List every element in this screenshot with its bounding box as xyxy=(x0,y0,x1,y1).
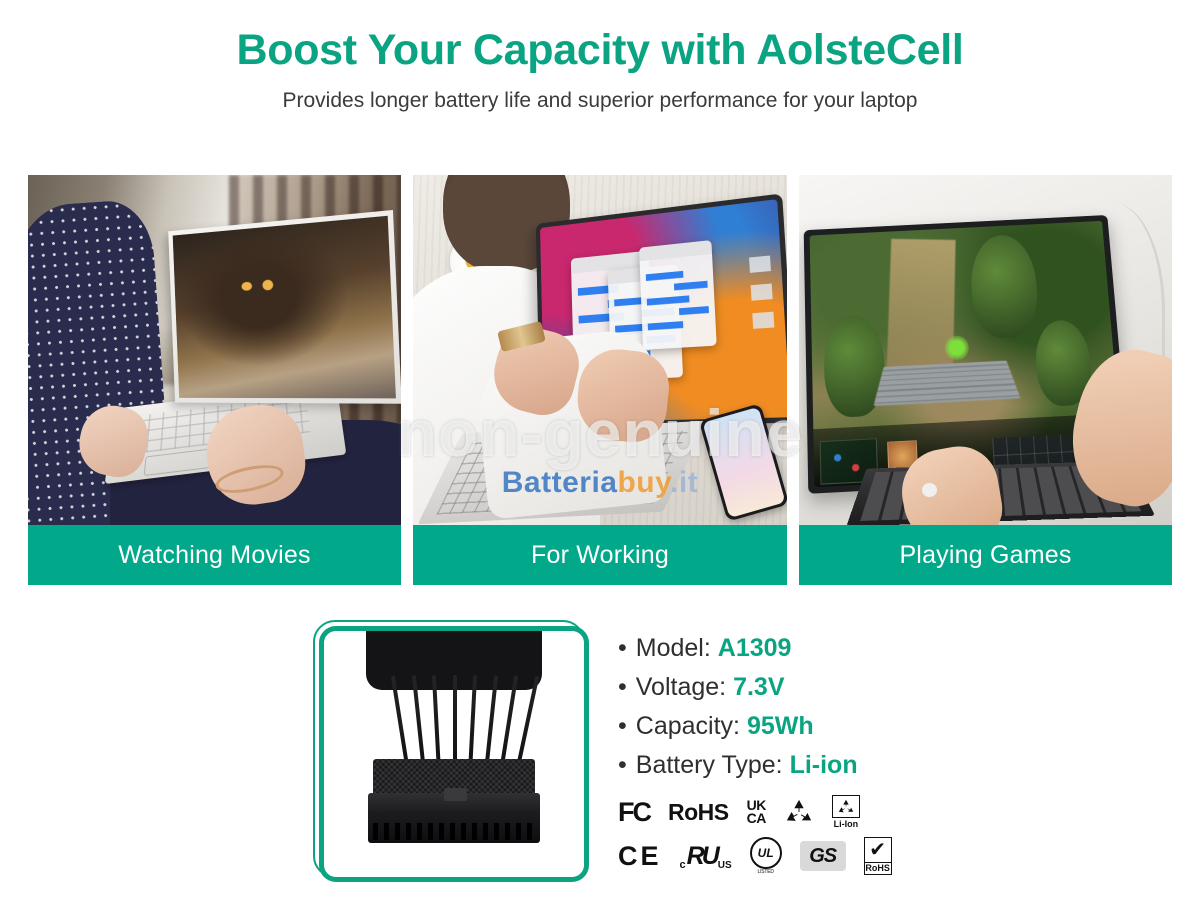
certification-row-1: FC RoHS UKCA xyxy=(618,790,918,834)
use-case-card-watching-movies[interactable]: Watching Movies xyxy=(28,175,401,585)
page-title: Boost Your Capacity with AolsteCell xyxy=(0,26,1200,75)
page-header: Boost Your Capacity with AolsteCell Prov… xyxy=(0,0,1200,113)
connector-plug xyxy=(368,793,540,842)
spec-bullet-2: • xyxy=(618,712,627,740)
c-ul-us-icon: c RU US xyxy=(680,842,732,871)
spec-label-1: Voltage: xyxy=(636,673,726,701)
movie-content xyxy=(173,215,397,398)
spec-bullet-1: • xyxy=(618,673,627,701)
spec-list: •Model: A1309 •Voltage: 7.3V •Capacity: … xyxy=(618,634,1038,790)
use-case-card-for-working[interactable]: For Working xyxy=(413,175,787,585)
c-ul-us-prefix: c xyxy=(680,859,686,871)
connector-notch xyxy=(444,788,467,800)
spec-bullet-3: • xyxy=(618,751,627,779)
watching-movies-photo xyxy=(28,175,401,525)
ukca-line2: CA xyxy=(747,810,766,826)
product-image-frame xyxy=(313,620,585,878)
spec-value-0: A1309 xyxy=(718,634,792,662)
game-hero xyxy=(944,335,969,361)
recycle-icon xyxy=(784,798,814,826)
fcc-icon: FC xyxy=(618,797,650,828)
chat-window-3 xyxy=(639,240,717,349)
spec-value-3: Li-ion xyxy=(790,751,858,779)
desktop-icons xyxy=(749,255,776,356)
panel-caption-2: For Working xyxy=(413,525,787,585)
game-stairs xyxy=(874,361,1020,406)
certification-row-2: CE c RU US UL LISTED GS ✔ RoHS xyxy=(618,834,918,878)
spec-item-battery-type: •Battery Type: Li-ion xyxy=(618,751,1038,780)
c-ul-us-main: RU xyxy=(687,842,717,871)
spec-item-model: •Model: A1309 xyxy=(618,634,1038,663)
use-case-panels: Watching Movies xyxy=(28,175,1172,585)
chat-bubbles-3 xyxy=(645,261,710,342)
spec-label-3: Battery Type: xyxy=(636,751,783,779)
use-case-card-playing-games[interactable]: Playing Games xyxy=(799,175,1172,585)
laptop-screen xyxy=(168,209,401,403)
page-subtitle: Provides longer battery life and superio… xyxy=(0,89,1200,113)
panel-caption-3: Playing Games xyxy=(799,525,1172,585)
product-detail-section: •Model: A1309 •Voltage: 7.3V •Capacity: … xyxy=(0,612,1200,900)
spec-bullet-0: • xyxy=(618,634,627,662)
gs-icon: GS xyxy=(800,841,846,871)
rohs-checkmark: ✔ xyxy=(864,837,892,863)
li-ion-recycle-icon: Li-Ion xyxy=(832,795,860,829)
game-tree-1 xyxy=(969,234,1041,340)
for-working-photo xyxy=(413,175,787,525)
panel-caption-1: Watching Movies xyxy=(28,525,401,585)
spec-value-1: 7.3V xyxy=(733,673,784,701)
rohs-icon: RoHS xyxy=(668,799,729,826)
ukca-icon: UKCA xyxy=(747,799,766,826)
spec-label-0: Model: xyxy=(636,634,711,662)
rohs-check-label: RoHS xyxy=(864,863,892,875)
finger-ring xyxy=(922,483,937,497)
ul-sub-label: LISTED xyxy=(758,869,774,875)
spec-item-capacity: •Capacity: 95Wh xyxy=(618,712,1038,741)
c-ul-us-suffix: US xyxy=(718,860,732,871)
li-ion-label: Li-Ion xyxy=(834,819,859,829)
ce-icon: CE xyxy=(618,841,662,872)
ul-icon: UL LISTED xyxy=(750,837,782,875)
li-ion-recycle-box xyxy=(832,795,860,818)
rohs-check-icon: ✔ RoHS xyxy=(864,837,892,875)
spec-label-2: Capacity: xyxy=(636,712,740,740)
certification-badges: FC RoHS UKCA xyxy=(618,790,918,878)
playing-games-photo xyxy=(799,175,1172,525)
product-image xyxy=(319,626,589,882)
ul-circle: UL xyxy=(750,837,782,869)
spec-value-2: 95Wh xyxy=(747,712,814,740)
spec-item-voltage: •Voltage: 7.3V xyxy=(618,673,1038,702)
